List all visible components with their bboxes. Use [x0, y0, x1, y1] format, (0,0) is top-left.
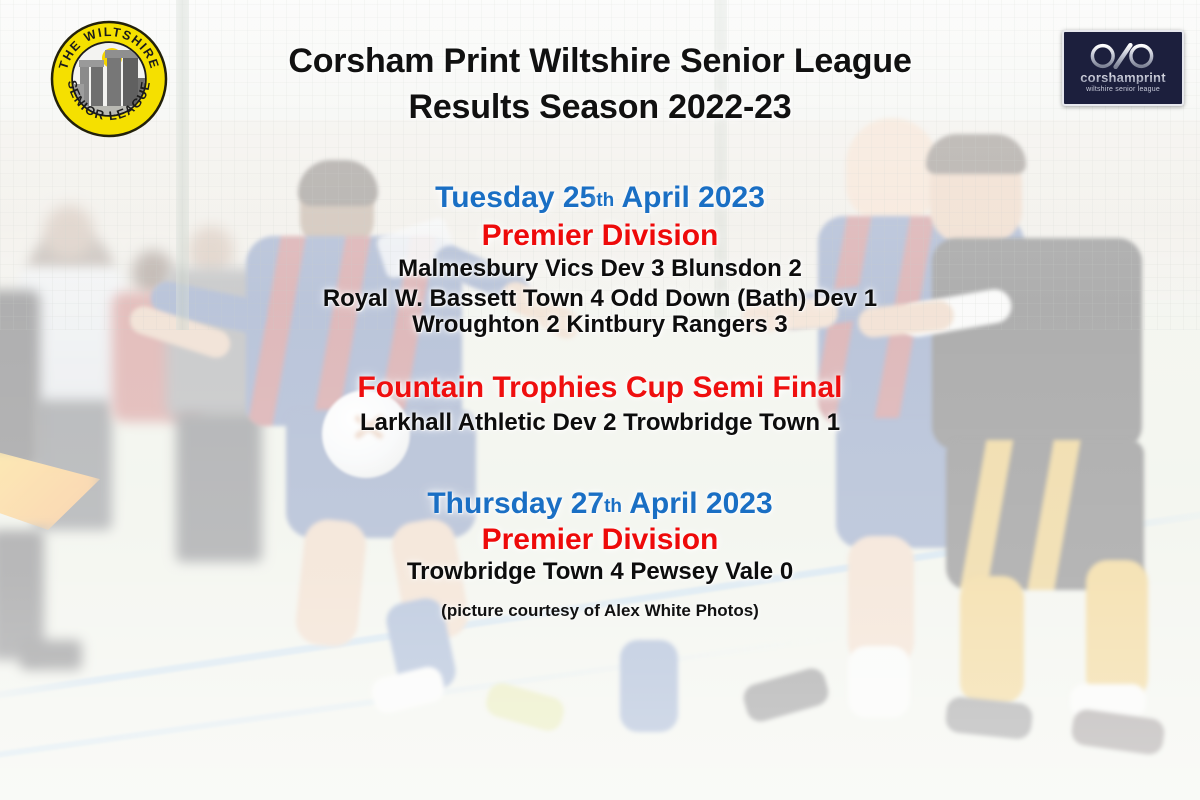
result-row: Malmesbury Vics Dev 3 Blunsdon 2 [0, 257, 1200, 281]
date-ordinal-suffix: th [604, 496, 622, 517]
date-main: Thursday 27 [427, 487, 604, 520]
photo-credit: (picture courtesy of Alex White Photos) [0, 602, 1200, 619]
poster-text-content: Corsham Print Wiltshire Senior League Re… [0, 0, 1200, 800]
results-poster: THE WILTSHIRE SENIOR LEAGUE corshamprint… [0, 0, 1200, 800]
date-main: Tuesday 25 [435, 181, 596, 214]
competition-fountain-trophies-cup: Fountain Trophies Cup Semi Final [0, 373, 1200, 403]
result-row: Larkhall Athletic Dev 2 Trowbridge Town … [0, 411, 1200, 435]
result-row: Royal W. Bassett Town 4 Odd Down (Bath) … [0, 287, 1200, 311]
page-title-line1: Corsham Print Wiltshire Senior League [0, 44, 1200, 78]
competition-premier-division-1: Premier Division [0, 221, 1200, 251]
result-row: Trowbridge Town 4 Pewsey Vale 0 [0, 560, 1200, 584]
competition-premier-division-2: Premier Division [0, 525, 1200, 555]
section-date-thursday: Thursday 27th April 2023 [0, 489, 1200, 519]
result-row: Wroughton 2 Kintbury Rangers 3 [0, 313, 1200, 337]
date-ordinal-suffix: th [596, 190, 614, 211]
page-title-line2: Results Season 2022-23 [0, 90, 1200, 124]
date-rest: April 2023 [614, 181, 765, 214]
section-date-tuesday: Tuesday 25th April 2023 [0, 183, 1200, 213]
date-rest: April 2023 [622, 487, 773, 520]
